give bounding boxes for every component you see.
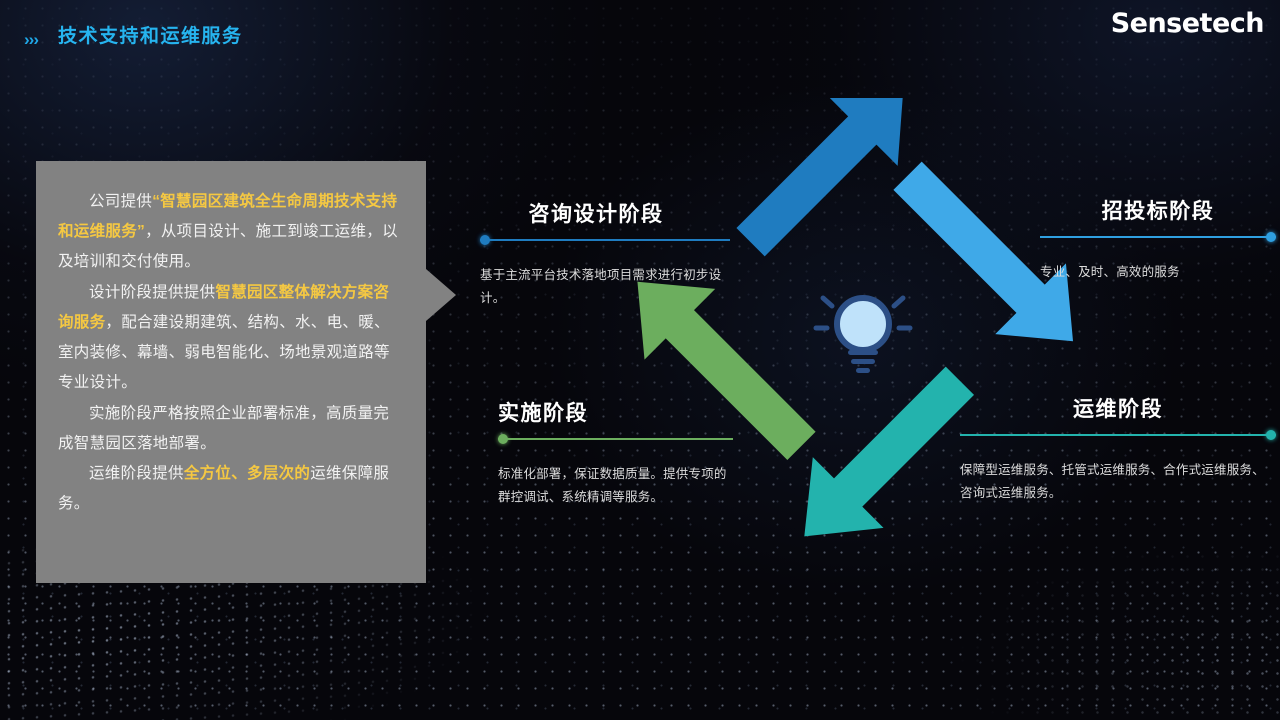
stage-ops-title: 运维阶段 [960, 398, 1276, 422]
info-callout-text: 公司提供“智慧园区建筑全生命周期技术支持和运维服务”，从项目设计、施工到竣工运维… [36, 161, 426, 519]
stage-implementation-title: 实施阶段 [498, 402, 733, 426]
stage-ops-rule [960, 429, 1276, 441]
stage-consulting-bar [480, 239, 730, 241]
slide-header: ››› 技术支持和运维服务 Sensetech [0, 0, 1280, 60]
stage-bidding-dot [1266, 232, 1276, 242]
page-title: 技术支持和运维服务 [58, 27, 243, 46]
stage-ops-dot [1266, 430, 1276, 440]
stage-bidding-description: 专业、及时、高效的服务 [1040, 261, 1276, 284]
stage-implementation: 实施阶段 标准化部署，保证数据质量。提供专项的群控调试、系统精调等服务。 [498, 402, 733, 509]
background-wave-right [820, 550, 1280, 720]
info-plain-text: 设计阶段提供提供 [89, 284, 215, 301]
stage-implementation-bar [498, 438, 733, 440]
stage-implementation-dot [498, 434, 508, 444]
stage-bidding: 招投标阶段 专业、及时、高效的服务 [1040, 200, 1276, 284]
stage-implementation-rule [498, 433, 733, 445]
lightbulb-icon [816, 298, 910, 373]
stage-bidding-title: 招投标阶段 [1040, 200, 1276, 224]
stage-consulting-rule [480, 234, 730, 246]
stage-consulting-title: 咨询设计阶段 [480, 203, 730, 227]
chevrons-icon: ››› [24, 31, 38, 48]
brand-logo: Sensetech [1111, 10, 1264, 37]
stage-bidding-rule [1040, 231, 1276, 243]
stage-consulting-description: 基于主流平台技术落地项目需求进行初步设计。 [480, 264, 730, 310]
stage-consulting: 咨询设计阶段 基于主流平台技术落地项目需求进行初步设计。 [480, 203, 730, 310]
info-paragraph-p3: 实施阶段严格按照企业部署标准，高质量完成智慧园区落地部署。 [58, 399, 404, 459]
info-paragraph-p1: 公司提供“智慧园区建筑全生命周期技术支持和运维服务”，从项目设计、施工到竣工运维… [58, 187, 404, 278]
info-highlight-text: 全方位、多层次的 [184, 465, 310, 482]
info-plain-text: ，配合建设期建筑、结构、水、电、暖、室内装修、幕墙、弱电智能化、场地景观道路等专… [58, 314, 390, 391]
info-plain-text: 运维阶段提供 [89, 465, 184, 482]
stage-consulting-dot [480, 235, 490, 245]
info-plain-text: 公司提供 [89, 193, 152, 210]
stage-ops-description: 保障型运维服务、托管式运维服务、合作式运维服务、咨询式运维服务。 [960, 459, 1276, 505]
callout-pointer-triangle [426, 269, 456, 321]
info-plain-text: 实施阶段严格按照企业部署标准，高质量完成智慧园区落地部署。 [58, 405, 389, 452]
stage-implementation-description: 标准化部署，保证数据质量。提供专项的群控调试、系统精调等服务。 [498, 463, 733, 509]
stage-ops: 运维阶段 保障型运维服务、托管式运维服务、合作式运维服务、咨询式运维服务。 [960, 398, 1276, 505]
stage-bidding-bar [1040, 236, 1276, 238]
info-paragraph-p4: 运维阶段提供全方位、多层次的运维保障服务。 [58, 459, 404, 519]
info-paragraph-p2: 设计阶段提供提供智慧园区整体解决方案咨询服务，配合建设期建筑、结构、水、电、暖、… [58, 278, 404, 399]
info-callout-box: 公司提供“智慧园区建筑全生命周期技术支持和运维服务”，从项目设计、施工到竣工运维… [36, 161, 426, 583]
stage-ops-bar [960, 434, 1276, 436]
